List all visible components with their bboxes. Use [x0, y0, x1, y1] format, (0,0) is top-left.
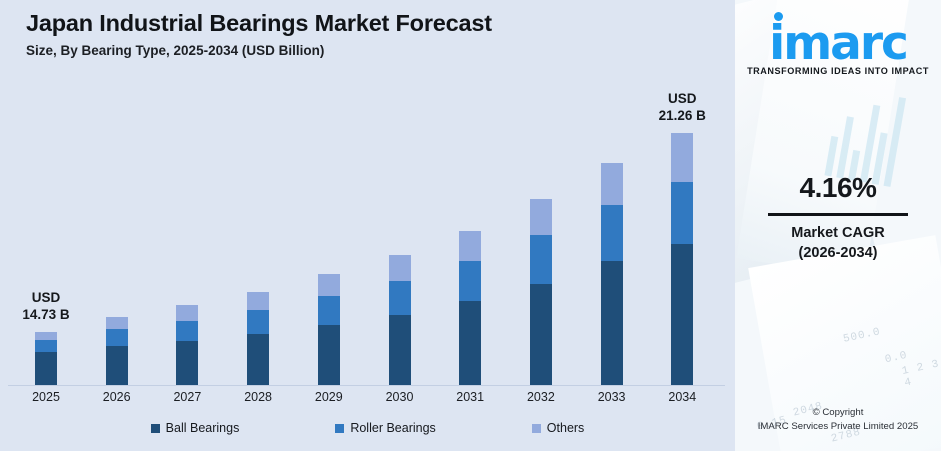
bar-segment-others-2029[interactable] — [318, 274, 340, 296]
bar-segment-roller-2034[interactable] — [671, 182, 693, 244]
bar-group-2031[interactable] — [459, 231, 481, 385]
bar-segment-ball-2025[interactable] — [35, 352, 57, 385]
x-axis-tick-2032: 2032 — [511, 390, 571, 404]
bar-segment-others-2031[interactable] — [459, 231, 481, 261]
annotation-currency: USD — [659, 91, 706, 108]
axis-baseline — [8, 385, 725, 386]
legend-swatch-icon — [151, 424, 160, 433]
x-axis: 2025202620272028202920302031203220332034 — [0, 390, 735, 410]
legend-item-roller-bearings[interactable]: Roller Bearings — [335, 421, 435, 435]
legend-item-ball-bearings[interactable]: Ball Bearings — [151, 421, 240, 435]
legend-swatch-icon — [335, 424, 344, 433]
logo-wordmark: imarc — [769, 22, 907, 65]
legend-label: Roller Bearings — [350, 421, 435, 435]
cagr-block: 4.16% Market CAGR (2026-2034) — [735, 172, 941, 261]
bar-segment-roller-2033[interactable] — [601, 205, 623, 261]
copyright-block: © Copyright IMARC Services Private Limit… — [735, 406, 941, 434]
bar-segment-ball-2034[interactable] — [671, 244, 693, 385]
legend-item-others[interactable]: Others — [532, 421, 585, 435]
cagr-label: Market CAGR — [735, 225, 941, 241]
cagr-value: 4.16% — [735, 172, 941, 204]
x-axis-tick-2031: 2031 — [440, 390, 500, 404]
bar-group-2032[interactable] — [530, 199, 552, 385]
bar-segment-ball-2027[interactable] — [176, 341, 198, 385]
page-subtitle: Size, By Bearing Type, 2025-2034 (USD Bi… — [26, 43, 492, 58]
x-axis-tick-2030: 2030 — [370, 390, 430, 404]
bar-segment-ball-2031[interactable] — [459, 301, 481, 385]
bar-value-annotation-2034: USD21.26 B — [659, 91, 706, 125]
x-axis-tick-2027: 2027 — [157, 390, 217, 404]
imarc-logo: imarc TRANSFORMING IDEAS INTO IMPACT — [735, 22, 941, 76]
annotation-value: 21.26 B — [659, 108, 706, 125]
logo-dot-icon — [774, 12, 783, 21]
bar-group-2025[interactable]: USD14.73 B — [35, 332, 57, 385]
page-title: Japan Industrial Bearings Market Forecas… — [26, 10, 492, 37]
bar-segment-others-2032[interactable] — [530, 199, 552, 235]
x-axis-tick-2034: 2034 — [652, 390, 712, 404]
bar-group-2029[interactable] — [318, 274, 340, 385]
cagr-divider — [768, 213, 908, 216]
bar-segment-others-2034[interactable] — [671, 133, 693, 182]
copyright-line-2: IMARC Services Private Limited 2025 — [735, 420, 941, 434]
bar-segment-roller-2031[interactable] — [459, 261, 481, 301]
bar-segment-others-2028[interactable] — [247, 292, 269, 310]
x-axis-tick-2025: 2025 — [16, 390, 76, 404]
bar-group-2034[interactable]: USD21.26 B — [671, 133, 693, 385]
bar-value-annotation-2025: USD14.73 B — [22, 290, 69, 324]
bar-segment-others-2025[interactable] — [35, 332, 57, 340]
bar-group-2027[interactable] — [176, 305, 198, 385]
bar-segment-roller-2025[interactable] — [35, 340, 57, 352]
brand-panel: 500.0 0.0 1 2 3 4 0.15 2048 2788 imarc T… — [735, 0, 941, 451]
bar-segment-ball-2030[interactable] — [389, 315, 411, 385]
bar-segment-others-2033[interactable] — [601, 163, 623, 205]
cagr-period: (2026-2034) — [735, 245, 941, 261]
chart-page: Japan Industrial Bearings Market Forecas… — [0, 0, 941, 451]
legend-label: Others — [547, 421, 585, 435]
annotation-value: 14.73 B — [22, 307, 69, 324]
x-axis-tick-2028: 2028 — [228, 390, 288, 404]
bar-segment-roller-2026[interactable] — [106, 329, 128, 346]
bar-segment-others-2030[interactable] — [389, 255, 411, 281]
x-axis-tick-2033: 2033 — [582, 390, 642, 404]
bar-group-2030[interactable] — [389, 255, 411, 385]
bar-segment-ball-2028[interactable] — [247, 334, 269, 385]
bar-segment-others-2026[interactable] — [106, 317, 128, 329]
chart-legend: Ball BearingsRoller BearingsOthers — [0, 421, 735, 435]
bar-segment-ball-2026[interactable] — [106, 346, 128, 385]
bar-segment-roller-2028[interactable] — [247, 310, 269, 334]
plot-area: USD14.73 BUSD21.26 B — [0, 96, 735, 386]
bar-segment-ball-2029[interactable] — [318, 325, 340, 385]
chart-panel: Japan Industrial Bearings Market Forecas… — [0, 0, 735, 451]
annotation-currency: USD — [22, 290, 69, 307]
bar-group-2033[interactable] — [601, 163, 623, 385]
bar-segment-roller-2030[interactable] — [389, 281, 411, 315]
bar-segment-roller-2032[interactable] — [530, 235, 552, 284]
copyright-line-1: © Copyright — [735, 406, 941, 420]
legend-label: Ball Bearings — [166, 421, 240, 435]
title-block: Japan Industrial Bearings Market Forecas… — [26, 10, 492, 58]
x-axis-tick-2026: 2026 — [87, 390, 147, 404]
bar-segment-roller-2027[interactable] — [176, 321, 198, 341]
x-axis-tick-2029: 2029 — [299, 390, 359, 404]
bar-segment-others-2027[interactable] — [176, 305, 198, 321]
bar-segment-ball-2033[interactable] — [601, 261, 623, 385]
bar-segment-roller-2029[interactable] — [318, 296, 340, 325]
legend-swatch-icon — [532, 424, 541, 433]
bar-group-2028[interactable] — [247, 292, 269, 385]
bar-segment-ball-2032[interactable] — [530, 284, 552, 385]
bar-group-2026[interactable] — [106, 317, 128, 385]
